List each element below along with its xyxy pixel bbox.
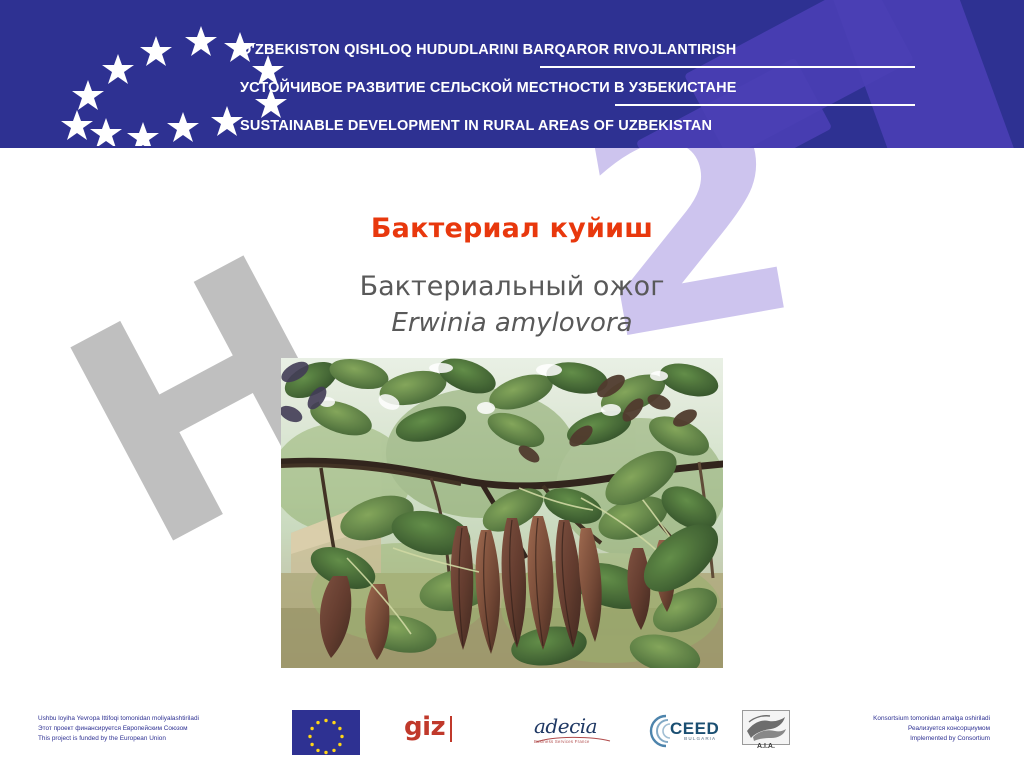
footer-funding-text: Ushbu loyiha Yevropa Ittifoqi tomonidan … [38, 714, 199, 744]
aia-logo: A.I.A. [742, 710, 794, 755]
giz-wordmark: giz [404, 712, 445, 742]
presentation-slide: H 2 [0, 0, 1024, 768]
footer-consortium-line-uz: Konsortsium tomonidan amalga oshiriladi [873, 714, 990, 724]
ceed-logo: CEED BULGARIA [644, 714, 730, 754]
adecia-swoosh-icon [534, 736, 612, 744]
slide-title-russian: Бактериальный ожог [0, 271, 1024, 302]
footer-consortium-line-en: Implemented by Consortium [873, 734, 990, 744]
header-title-block: O'ZBEKISTON QISHLOQ HUDUDLARINI BARQAROR… [240, 42, 940, 142]
giz-logo: giz [404, 714, 514, 754]
ceed-country-label: BULGARIA [684, 736, 716, 741]
footer-funding-line-en: This project is funded by the European U… [38, 734, 199, 744]
aia-emblem-icon [742, 710, 790, 745]
slide-title-uzbek: Бактериал куйиш [0, 213, 1024, 244]
header-line-3-row: SUSTAINABLE DEVELOPMENT IN RURAL AREAS O… [240, 118, 940, 148]
footer-bar: Ushbu loyiha Yevropa Ittifoqi tomonidan … [0, 700, 1024, 768]
header-line-uz: O'ZBEKISTON QISHLOQ HUDUDLARINI BARQAROR… [240, 42, 736, 58]
adecia-wordmark: adecia [534, 714, 616, 738]
footer-consortium-line-ru: Реализуется консорциумом [873, 724, 990, 734]
footer-funding-line-ru: Этот проект финансируется Европейским Со… [38, 724, 199, 734]
header-rule-2 [615, 104, 915, 106]
header-banner: O'ZBEKISTON QISHLOQ HUDUDLARINI BARQAROR… [0, 0, 1024, 148]
aia-wordmark: A.I.A. [742, 743, 790, 750]
header-rule-1 [540, 66, 915, 68]
slide-title-latin-name: Erwinia amylovora [0, 308, 1024, 338]
header-line-1-row: O'ZBEKISTON QISHLOQ HUDUDLARINI BARQAROR… [240, 42, 940, 72]
header-line-ru: УСТОЙЧИВОЕ РАЗВИТИЕ СЕЛЬСКОЙ МЕСТНОСТИ В… [240, 80, 737, 96]
fire-blight-photo [281, 358, 723, 668]
header-line-2-row: УСТОЙЧИВОЕ РАЗВИТИЕ СЕЛЬСКОЙ МЕСТНОСТИ В… [240, 80, 940, 110]
eu-flag-logo [292, 710, 360, 755]
footer-funding-line-uz: Ushbu loyiha Yevropa Ittifoqi tomonidan … [38, 714, 199, 724]
header-line-en: SUSTAINABLE DEVELOPMENT IN RURAL AREAS O… [240, 118, 712, 134]
giz-divider [450, 716, 452, 742]
eu-flag-icon [292, 710, 360, 755]
adecia-logo: adecia Business Services France [534, 714, 616, 754]
footer-consortium-text: Konsortsium tomonidan amalga oshiriladi … [873, 714, 990, 744]
